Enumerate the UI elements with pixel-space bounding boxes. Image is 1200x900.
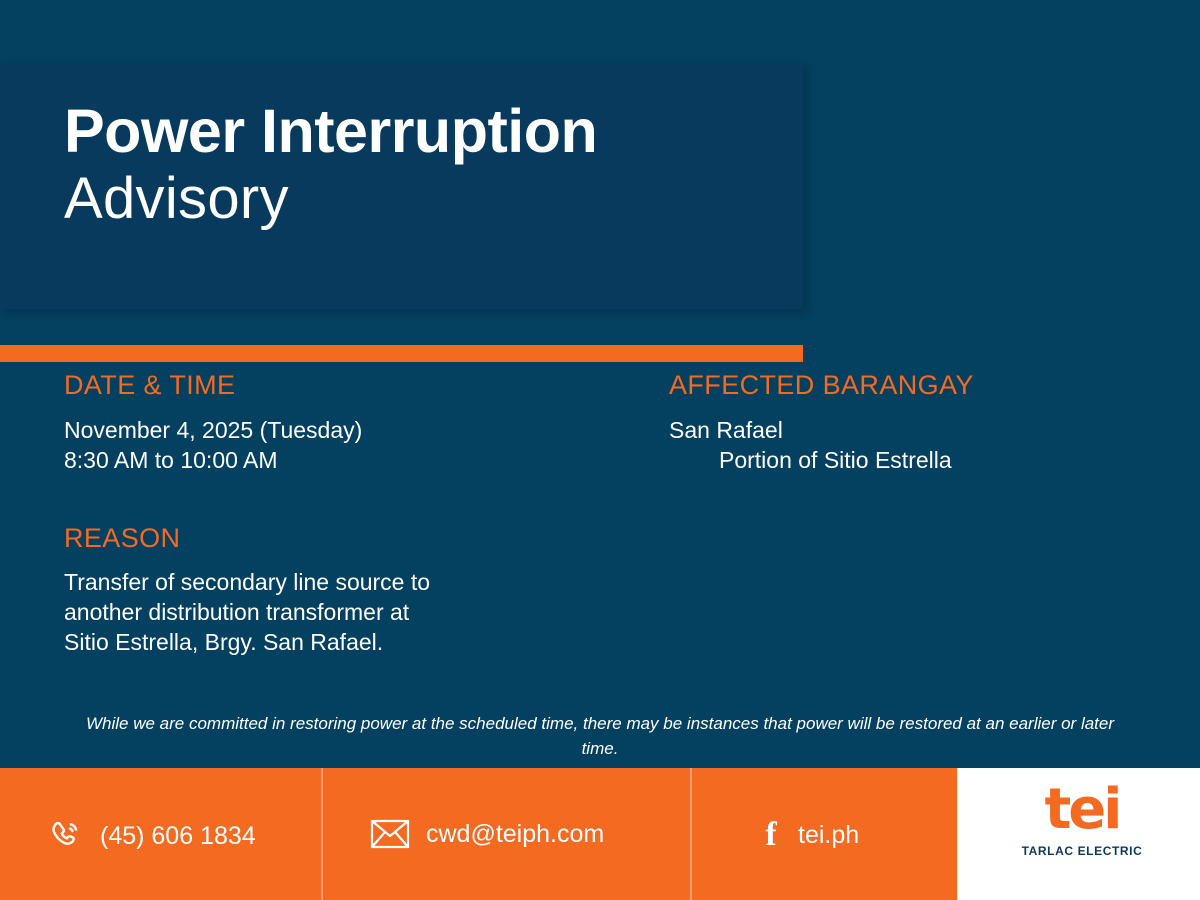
date-time-section: DATE & TIME November 4, 2025 (Tuesday) 8… <box>64 370 624 476</box>
title-group: Power Interruption Advisory <box>64 100 597 231</box>
logo-tagline: TARLAC ELECTRIC <box>1012 844 1152 858</box>
reason-line-3: Sitio Estrella, Brgy. San Rafael. <box>64 628 624 658</box>
facebook-icon: f <box>760 818 782 852</box>
envelope-icon <box>370 818 410 850</box>
contact-phone[interactable]: (45) 606 1834 <box>48 818 256 854</box>
page-title: Power Interruption <box>64 100 597 162</box>
time-value: 8:30 AM to 10:00 AM <box>64 445 624 475</box>
page-subtitle: Advisory <box>64 168 597 231</box>
footer: (45) 606 1834 cwd@teiph.com f tei.ph tei… <box>0 768 1200 900</box>
date-value: November 4, 2025 (Tuesday) <box>64 415 624 445</box>
accent-bar <box>0 345 803 362</box>
barangay-name: San Rafael <box>669 415 1149 445</box>
facebook-handle: tei.ph <box>798 821 859 850</box>
affected-barangay-section: AFFECTED BARANGAY San Rafael Portion of … <box>669 370 1149 476</box>
phone-number: (45) 606 1834 <box>100 822 256 851</box>
date-time-heading: DATE & TIME <box>64 370 624 401</box>
logo-wordmark: tei <box>1012 782 1152 838</box>
reason-section: REASON Transfer of secondary line source… <box>64 523 624 658</box>
company-logo: tei TARLAC ELECTRIC <box>1012 782 1152 858</box>
reason-line-1: Transfer of secondary line source to <box>64 568 624 598</box>
email-address: cwd@teiph.com <box>426 820 604 849</box>
affected-barangay-heading: AFFECTED BARANGAY <box>669 370 1149 401</box>
footer-divider-2 <box>690 768 692 900</box>
disclaimer-text: While we are committed in restoring powe… <box>80 712 1120 761</box>
reason-heading: REASON <box>64 523 624 554</box>
header-panel: Power Interruption Advisory <box>0 62 803 309</box>
contact-email[interactable]: cwd@teiph.com <box>370 818 604 850</box>
contact-facebook[interactable]: f tei.ph <box>760 818 859 852</box>
barangay-portion: Portion of Sitio Estrella <box>669 445 1149 475</box>
phone-icon <box>48 818 84 854</box>
footer-divider-1 <box>321 768 323 900</box>
reason-line-2: another distribution transformer at <box>64 598 624 628</box>
